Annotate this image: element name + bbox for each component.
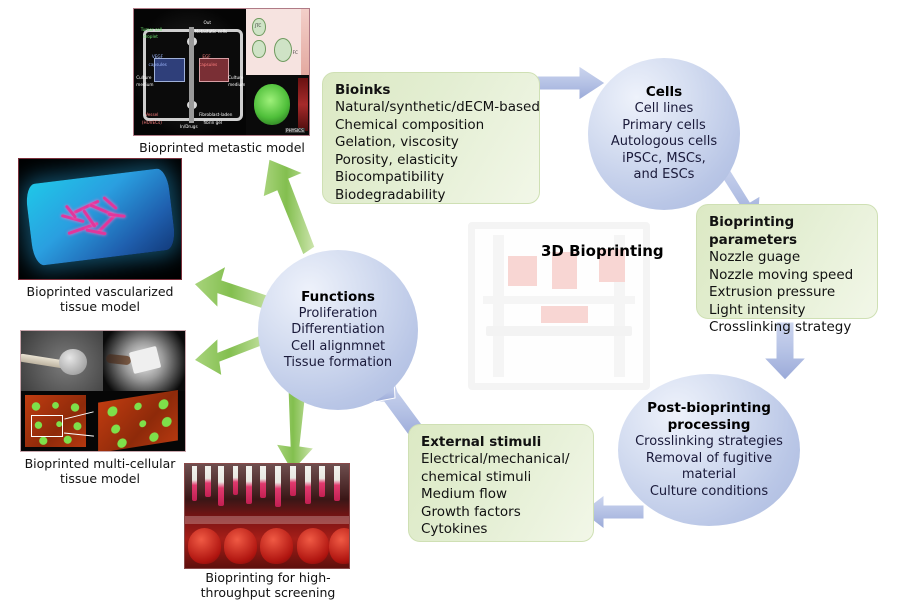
circle-functions-line-3: Cell alignmnet (291, 339, 385, 356)
met-label-metastatic: Metastatic cells (194, 29, 227, 34)
circle-post-line-1: Crosslinking strategies (635, 434, 783, 451)
met-label-culture-right: Culture (228, 75, 243, 80)
photo-bioprinted-metastatic-model: Tumor cell droplet Metastatic cells Out … (133, 8, 310, 136)
box-parameters-line-1: Nozzle guage (709, 249, 867, 267)
center-label-3d-bioprinting: 3D Bioprinting (541, 242, 664, 260)
met-label-jtc: JTC (255, 23, 261, 28)
photo-bioprinted-vascularized-tissue (18, 158, 182, 280)
photo-high-throughput-screening (184, 463, 350, 569)
box-stimuli-line-1: Electrical/mechanical/ (421, 451, 583, 469)
box-bioinks-line-3: Gelation, viscosity (335, 134, 529, 152)
met-label-egf: EGF (202, 54, 210, 59)
circle-functions-line-1: Proliferation (299, 306, 378, 323)
met-label-vegf: VEGF (152, 54, 163, 59)
box-stimuli-line-2: chemical stimuli (421, 469, 583, 487)
arrow-functions-to-metastatic (255, 155, 321, 265)
box-stimuli-line-3: Medium flow (421, 486, 583, 504)
circle-post-line-3: material (682, 467, 736, 484)
caption-vascularized-line2: tissue model (60, 299, 140, 314)
met-label-medium-right: medium (228, 82, 245, 87)
box-stimuli-line-4: Growth factors (421, 504, 583, 522)
met-label-indrugs: In/Drugs (180, 124, 198, 129)
photo-bioprinted-multicellular-tissue (20, 330, 186, 452)
caption-multicellular-line1: Bioprinted multi-cellular (25, 456, 176, 471)
circle-cells-line-3: Autologous cells (611, 134, 717, 151)
box-external-stimuli[interactable]: External stimuli Electrical/mechanical/ … (408, 424, 594, 542)
met-label-culture-left: Culture (136, 75, 151, 80)
circle-post-line-2: Removal of fugitive (646, 451, 772, 468)
circle-cells-line-4: iPSCc, MSCs, (622, 151, 706, 168)
met-label-huvecs: (HUVECs) (142, 120, 162, 125)
circle-functions-title: Functions (301, 289, 375, 306)
met-label-fibroblast: Fibroblast-laden (199, 112, 232, 117)
circle-post-title-line2: processing (668, 417, 751, 434)
box-bioinks-title: Bioinks (335, 81, 529, 99)
met-label-vessel: Vessel (145, 112, 158, 117)
box-bioinks[interactable]: Bioinks Natural/synthetic/dECM-based Che… (322, 72, 540, 204)
circle-functions[interactable]: Functions Proliferation Differentiation … (258, 250, 418, 410)
circle-post-title: Post-bioprinting (647, 400, 771, 417)
circle-cells-line-2: Primary cells (622, 118, 706, 135)
box-parameters-line-4: Light intensity (709, 302, 867, 320)
box-bioinks-line-4: Porosity, elasticity (335, 152, 529, 170)
caption-highthroughput-line2: throughput screening (201, 585, 336, 600)
box-bioinks-line-5: Biocompatibility (335, 169, 529, 187)
met-label-inset: PHYSICS (285, 128, 305, 133)
circle-functions-line-4: Tissue formation (284, 355, 392, 372)
circle-cells[interactable]: Cells Cell lines Primary cells Autologou… (588, 58, 740, 210)
box-parameters-line-3: Extrusion pressure (709, 284, 867, 302)
circle-functions-line-2: Differentiation (291, 322, 384, 339)
circle-post-line-4: Culture conditions (650, 484, 768, 501)
circle-post-bioprinting-processing[interactable]: Post-bioprinting processing Crosslinking… (618, 374, 800, 526)
box-parameters-line-2: Nozzle moving speed (709, 267, 867, 285)
met-label-tumor: Tumor cell (141, 27, 162, 32)
caption-vascularized-line1: Bioprinted vascularized (27, 284, 174, 299)
box-bioinks-line-1: Natural/synthetic/dECM-based (335, 99, 529, 117)
circle-cells-title: Cells (646, 84, 682, 101)
circle-cells-line-5: and ESCs (634, 167, 695, 184)
caption-multicellular-tissue: Bioprinted multi-cellular tissue model (0, 456, 200, 486)
box-stimuli-title: External stimuli (421, 433, 583, 451)
box-bioprinting-parameters[interactable]: Bioprinting parameters Nozzle guage Nozz… (696, 204, 878, 319)
met-label-medium-left: medium (136, 82, 153, 87)
met-label-capsules-right: capsules (199, 62, 217, 67)
box-bioinks-line-6: Biodegradability (335, 187, 529, 205)
caption-highthroughput-line1: Bioprinting for high- (205, 570, 330, 585)
caption-vascularized-tissue: Bioprinted vascularized tissue model (8, 284, 192, 314)
box-parameters-line-5: Crosslinking strategy (709, 319, 867, 337)
caption-metastatic-model: Bioprinted metastic model (128, 140, 316, 155)
met-label-out: Out (203, 20, 211, 25)
met-label-fibrin: fibrin gel (203, 120, 222, 125)
met-label-capsules-left: capsules (149, 62, 167, 67)
box-bioinks-line-2: Chemical composition (335, 117, 529, 135)
met-label-fc: FC (293, 50, 298, 55)
box-stimuli-line-5: Cytokines (421, 521, 583, 539)
circle-cells-line-1: Cell lines (635, 101, 694, 118)
caption-high-throughput: Bioprinting for high- throughput screeni… (180, 570, 356, 600)
met-label-droplet: droplet (143, 34, 158, 39)
box-parameters-title: Bioprinting parameters (709, 213, 867, 249)
caption-multicellular-line2: tissue model (60, 471, 140, 486)
